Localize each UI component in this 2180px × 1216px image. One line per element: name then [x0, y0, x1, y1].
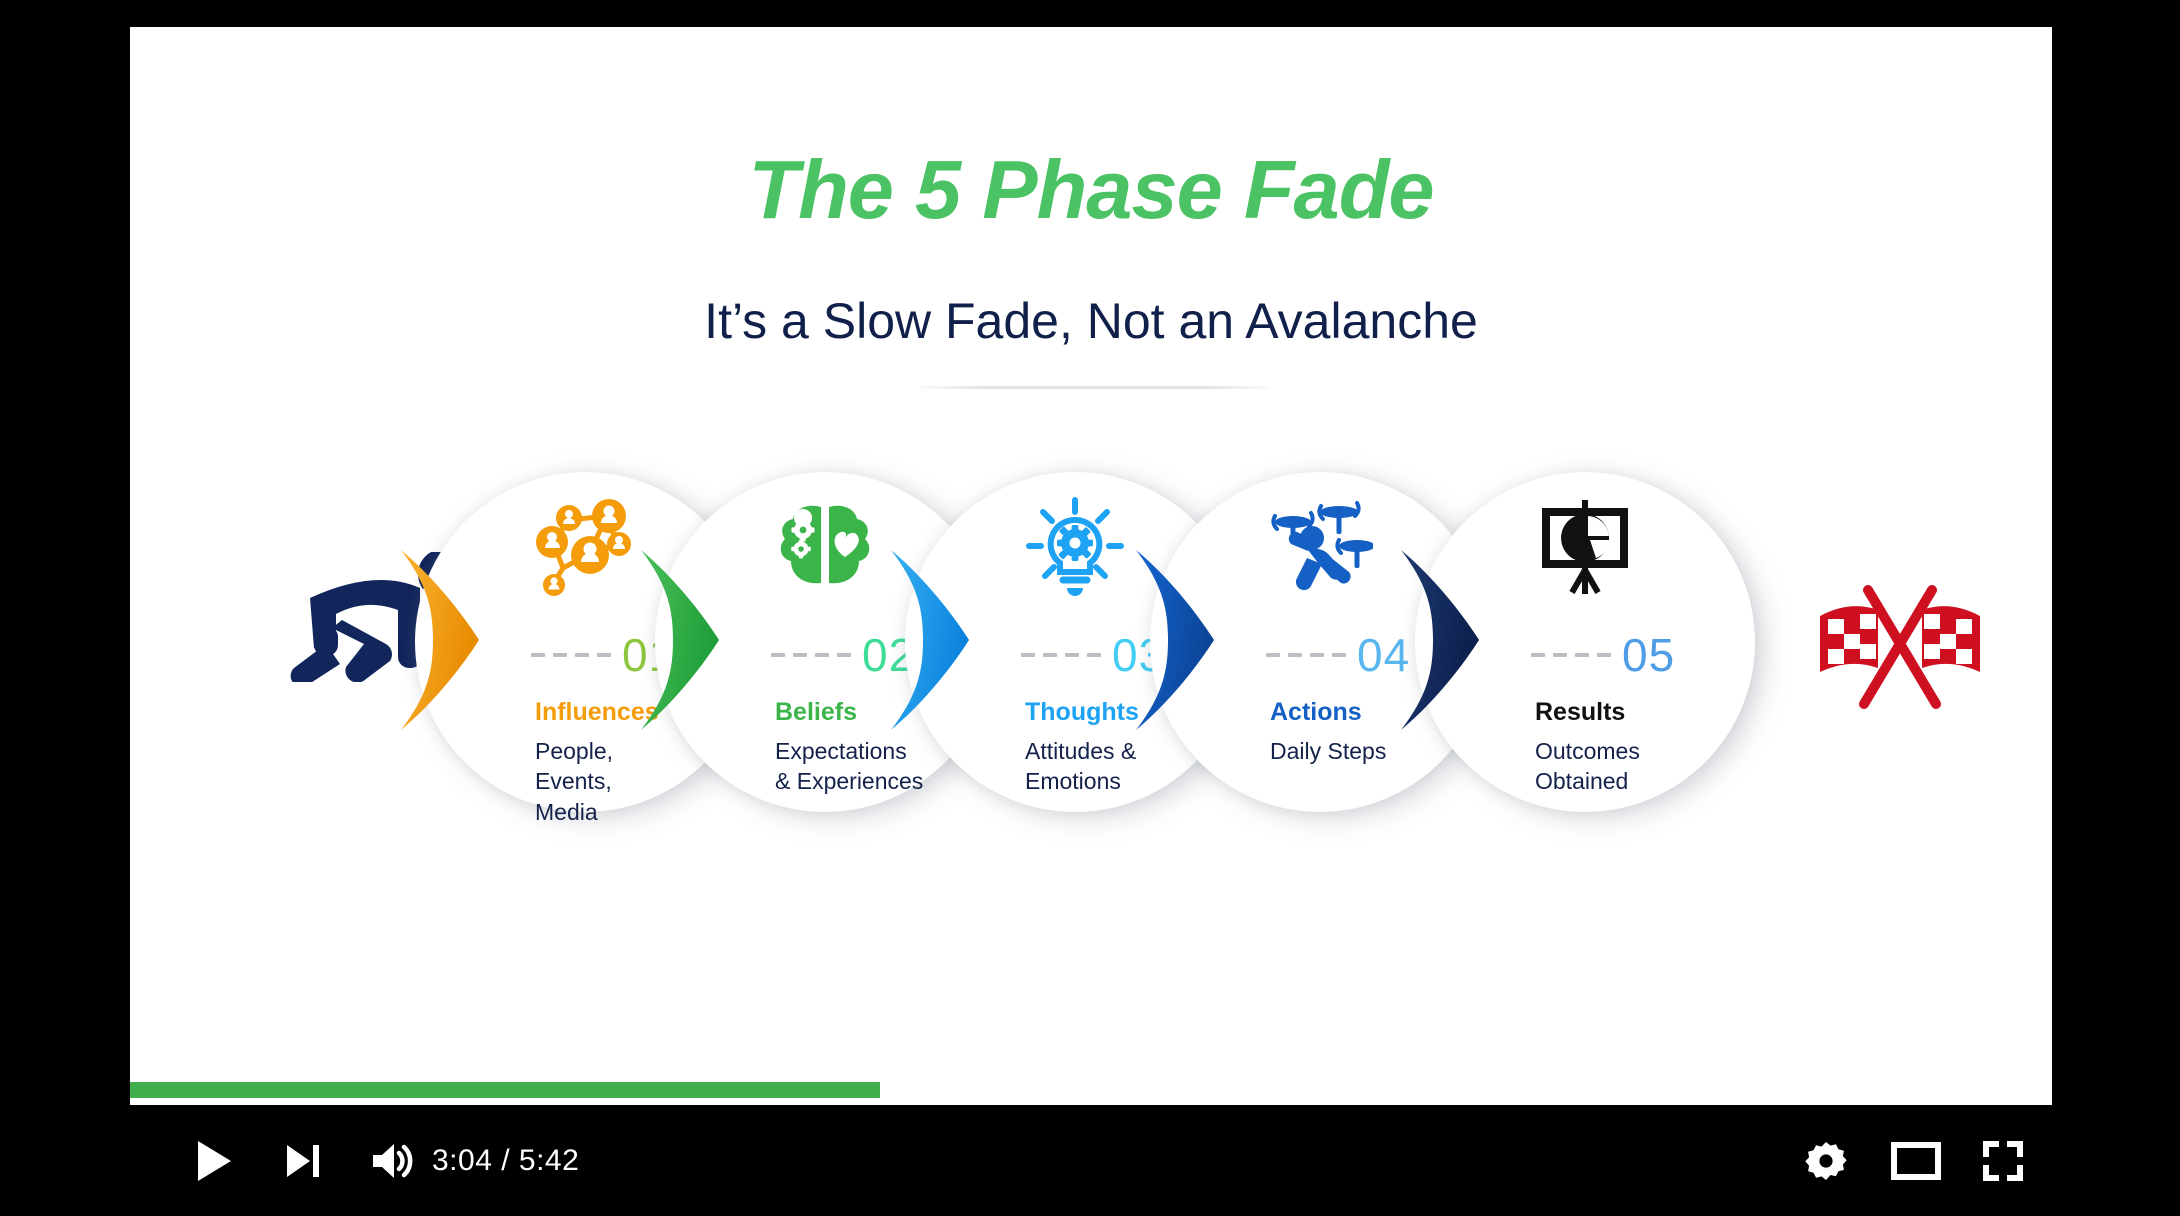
people-network-icon — [525, 488, 645, 604]
gear-icon[interactable] — [1800, 1135, 1852, 1187]
progress-bar-fill — [130, 1082, 880, 1098]
next-track-icon[interactable] — [276, 1134, 330, 1188]
miniplayer-icon[interactable] — [1888, 1137, 1944, 1185]
checkered-flags-icon — [1810, 582, 1990, 717]
phase-name: Thoughts — [1025, 698, 1139, 727]
fullscreen-icon[interactable] — [1976, 1134, 2030, 1188]
lightbulb-gear-icon — [1015, 488, 1135, 604]
phase-name: Beliefs — [775, 698, 857, 727]
phase-number-row: 04 — [1266, 632, 1410, 678]
phase-description: Daily Steps — [1270, 736, 1386, 766]
dashed-connector — [531, 653, 611, 657]
dashed-connector — [1531, 653, 1611, 657]
phase-number-row: 05 — [1531, 632, 1675, 678]
title-divider — [920, 386, 1270, 389]
dashed-connector — [1021, 653, 1101, 657]
dashed-connector — [771, 653, 851, 657]
time-display: 3:04 / 5:42 — [432, 1144, 579, 1178]
page-title: The 5 Phase Fade — [130, 142, 2052, 238]
page-subtitle: It’s a Slow Fade, Not an Avalanche — [130, 292, 2052, 350]
phase-5[interactable]: 05 Results Outcomes Obtained — [1415, 472, 1755, 812]
phase-chevron — [1393, 550, 1483, 730]
dashed-connector — [1266, 653, 1346, 657]
phase-description: Expectations & Experiences — [775, 736, 923, 797]
presentation-pie-chart-icon — [1525, 488, 1645, 604]
phase-description: People, Events, Media — [535, 736, 613, 827]
video-player: The 5 Phase Fade It’s a Slow Fade, Not a… — [0, 0, 2180, 1216]
progress-bar-track[interactable] — [130, 1082, 2052, 1098]
plate-spinner-icon — [1260, 488, 1380, 604]
brain-gears-heart-icon — [765, 488, 885, 604]
phase-chevron — [393, 550, 483, 730]
slide-canvas: The 5 Phase Fade It’s a Slow Fade, Not a… — [130, 27, 2052, 1105]
phase-chevron — [883, 550, 973, 730]
phase-chevron — [633, 550, 723, 730]
phase-name: Results — [1535, 698, 1625, 727]
play-icon[interactable] — [186, 1133, 242, 1189]
phase-number: 05 — [1622, 632, 1675, 678]
phase-description: Attitudes & Emotions — [1025, 736, 1136, 797]
phase-name: Actions — [1270, 698, 1362, 727]
phase-flow-diagram: 01 Influences People, Events, Media — [130, 472, 2052, 872]
phase-description: Outcomes Obtained — [1535, 736, 1640, 797]
player-control-bar: 3:04 / 5:42 — [0, 1106, 2180, 1216]
volume-icon[interactable] — [364, 1133, 420, 1189]
phase-chevron — [1128, 550, 1218, 730]
